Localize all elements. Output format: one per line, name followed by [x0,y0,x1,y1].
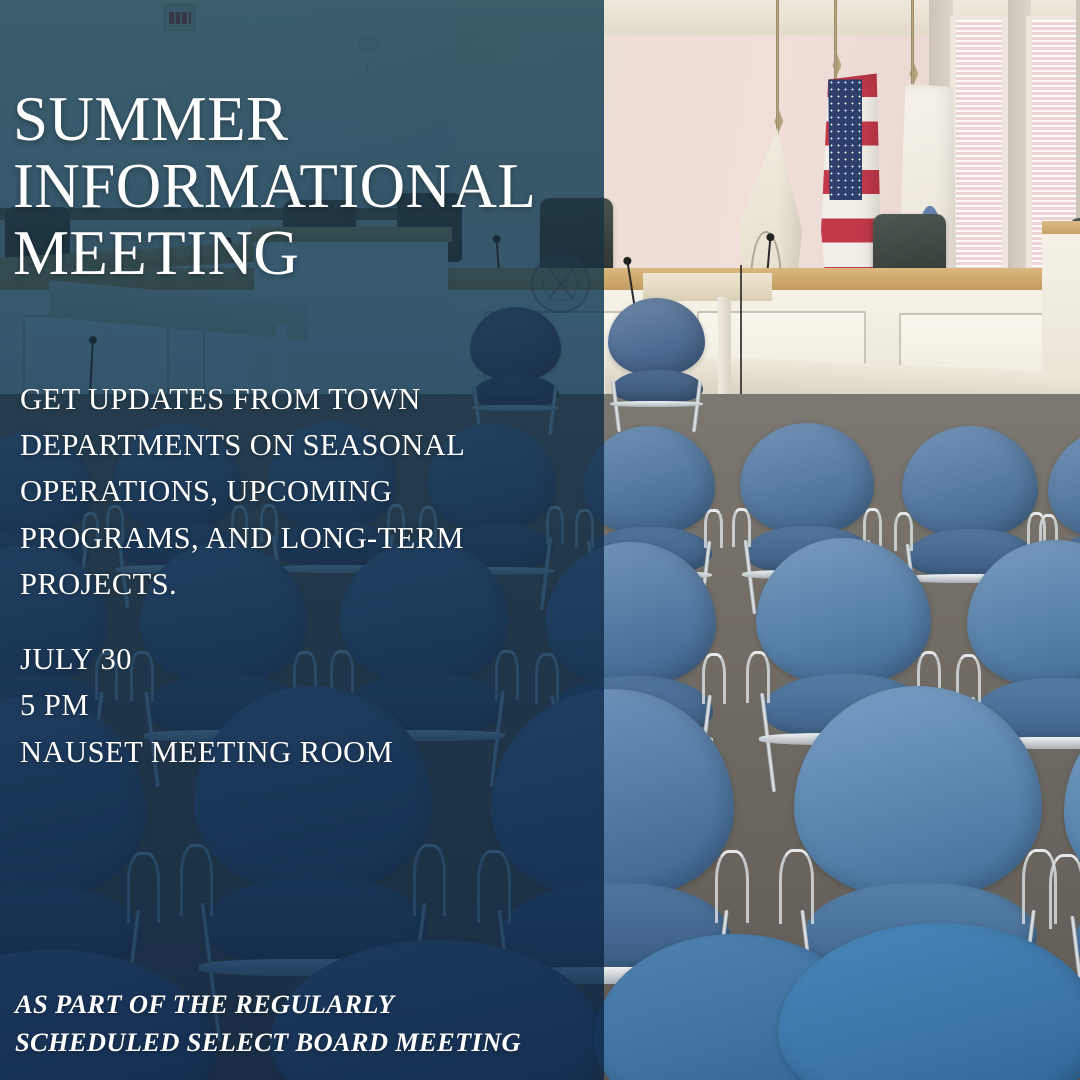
event-details: JULY 30 5 PM NAUSET MEETING ROOM [20,636,560,775]
footnote-text: AS PART OF THE REGULARLY SCHEDULED SELEC… [15,985,615,1062]
poster-text-layer: SUMMER INFORMATIONAL MEETING GET UPDATES… [0,0,1080,1080]
event-time: 5 PM [20,682,560,728]
page-title: SUMMER INFORMATIONAL MEETING [13,86,653,286]
event-poster: SUMMER INFORMATIONAL MEETING GET UPDATES… [0,0,1080,1080]
description-text: GET UPDATES FROM TOWN DEPARTMENTS ON SEA… [20,376,565,608]
title-line-3: MEETING [13,220,653,287]
event-location: NAUSET MEETING ROOM [20,729,560,775]
footnote-line-2: SCHEDULED SELECT BOARD MEETING [15,1023,615,1062]
footnote-line-1: AS PART OF THE REGULARLY [15,985,615,1024]
title-line-1: SUMMER [13,86,653,153]
event-date: JULY 30 [20,636,560,682]
title-line-2: INFORMATIONAL [13,153,653,220]
